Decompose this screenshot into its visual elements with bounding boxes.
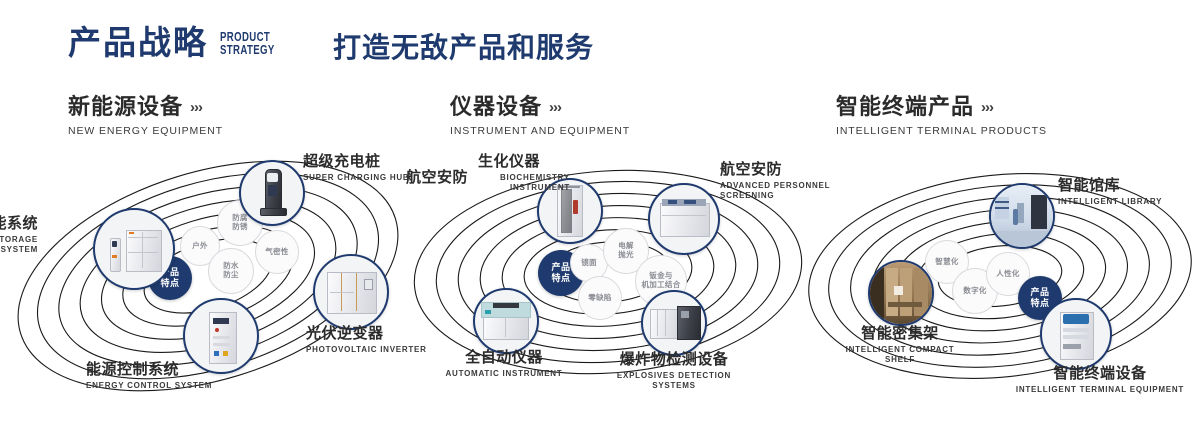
page-title-en: PRODUCT STRATEGY — [220, 30, 275, 60]
label-intelligent-compact-shelf: 智能密集架 INTELLIGENT COMPACT SHELF — [820, 326, 980, 365]
node-intelligent-terminal-equipment[interactable] — [1040, 298, 1112, 370]
label-explosives-detection-systems: 爆炸物检测设备 EXPLOSIVES DETECTION SYSTEMS — [606, 352, 742, 391]
section-title-en: INTELLIGENT TERMINAL PRODUCTS — [836, 125, 1047, 137]
chevron-right-icon: ››› — [981, 99, 993, 116]
label-aviation-security-secondary: 航空安防 — [406, 170, 468, 187]
cluster-intelligent-terminal: 智慧化 数字化 人性化 产品 特点 智能馆库 INTELLIGENT LIBRA… — [790, 150, 1200, 400]
product-strategy-infographic: 产品战略 PRODUCT STRATEGY 打造无敌产品和服务 新能源设备 ››… — [0, 0, 1200, 422]
section-title-cn: 新能源设备 — [68, 96, 183, 118]
page-title-cn: 产品战略 — [68, 26, 208, 59]
label-intelligent-library: 智能馆库 INTELLIGENT LIBRARY — [1058, 178, 1200, 207]
label-automatic-instrument: 全自动仪器 AUTOMATIC INSTRUMENT — [430, 350, 578, 379]
node-super-charging-hub[interactable] — [239, 160, 305, 226]
chevron-right-icon: ››› — [190, 99, 202, 116]
cluster-instrument: 产品 特点 镜面 电解 抛光 钣金与 机加工结合 零缺陷 生化仪器 BIOCHE… — [398, 150, 818, 400]
feature-bubble: 气密性 — [255, 230, 299, 274]
node-energy-storage-system[interactable] — [93, 208, 175, 290]
section-title-en: INSTRUMENT AND EQUIPMENT — [450, 125, 630, 137]
cluster-new-energy: 产品 特点 户外 防腐 防锈 防水 防尘 气密性 储能系统 ENERGY STO… — [0, 150, 420, 400]
page-slogan: 打造无敌产品和服务 — [333, 34, 594, 62]
feature-bubble: 零缺陷 — [578, 276, 622, 320]
section-heading-new-energy: 新能源设备 ››› NEW ENERGY EQUIPMENT — [68, 96, 223, 137]
node-intelligent-library[interactable] — [989, 183, 1055, 249]
chevron-right-icon: ››› — [549, 99, 561, 116]
label-energy-storage-system: 储能系统 ENERGY STORAGE SYSTEM — [0, 216, 38, 255]
label-energy-control-system: 能源控制系统 ENERGY CONTROL SYSTEM — [86, 362, 266, 391]
section-title-en: NEW ENERGY EQUIPMENT — [68, 125, 223, 137]
node-intelligent-compact-shelf[interactable] — [868, 260, 934, 326]
feature-bubble: 防水 防尘 — [208, 248, 254, 294]
node-advanced-personnel-screening[interactable] — [648, 183, 720, 255]
section-heading-instrument: 仪器设备 ››› INSTRUMENT AND EQUIPMENT — [450, 96, 630, 137]
node-explosives-detection-systems[interactable] — [641, 290, 707, 356]
section-heading-intelligent-terminal: 智能终端产品 ››› INTELLIGENT TERMINAL PRODUCTS — [836, 96, 1047, 137]
page-title: 产品战略 PRODUCT STRATEGY — [68, 26, 294, 59]
section-title-cn: 仪器设备 — [450, 96, 542, 118]
node-photovoltaic-inverter[interactable] — [313, 254, 389, 330]
section-title-cn: 智能终端产品 — [836, 96, 974, 118]
node-automatic-instrument[interactable] — [473, 288, 539, 354]
label-intelligent-terminal-equipment: 智能终端设备 INTELLIGENT TERMINAL EQUIPMENT — [1002, 366, 1198, 395]
